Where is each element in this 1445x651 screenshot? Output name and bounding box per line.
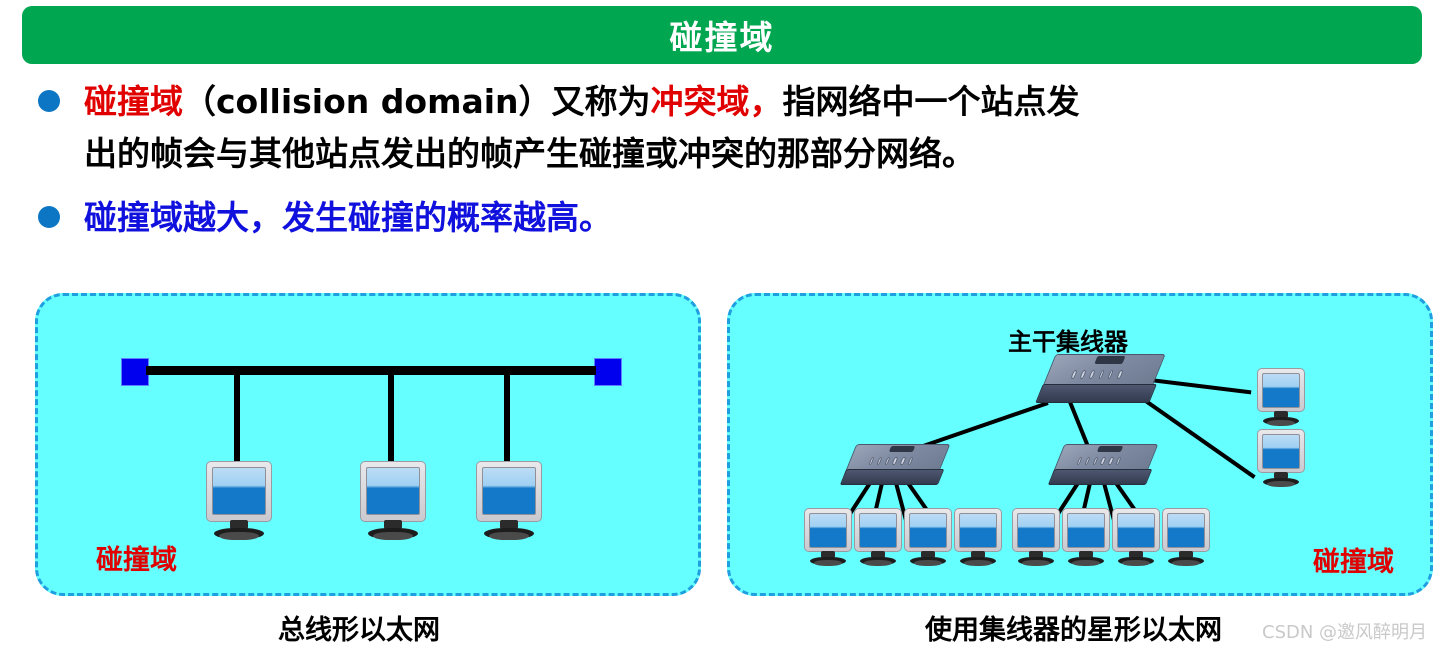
pc-monitor-icon [904,508,952,568]
monitor-bezel [954,508,1002,552]
pc-monitor-icon [954,508,1002,568]
monitor-bezel [360,461,426,522]
monitor-screen [859,513,897,548]
monitor-bezel [1012,508,1060,552]
hub-port-row [869,458,914,464]
monitor-base-highlight [1267,420,1296,426]
monitor-base-highlight [864,560,893,566]
slide-canvas: 碰撞域 碰撞域（collision domain）又称为冲突域，指网络中一个站点… [0,0,1445,651]
pc-monitor-icon [1112,508,1160,568]
pc-monitor-icon [1257,429,1305,489]
backbone-hub-label: 主干集线器 [1008,322,1128,357]
pc-monitor-icon [1012,508,1060,568]
backbone-hub-icon [1048,354,1156,412]
bullet-1-seg-4: 指网络中一个站点发 [783,82,1080,121]
caption-bus-ethernet: 总线形以太网 [278,608,440,647]
monitor-base-highlight [219,532,259,540]
hub-front-face [839,469,943,485]
bullet-dot-icon [38,206,60,228]
monitor-screen [909,513,947,548]
monitor-screen [1117,513,1155,548]
bus-backbone-line [146,366,596,375]
monitor-base-highlight [1022,560,1051,566]
monitor-base-highlight [1267,481,1296,487]
hub-left-icon [850,444,942,492]
term-conflict-domain-cn: 冲突域， [651,82,783,121]
monitor-screen [1262,373,1300,408]
hub-front-face [1035,384,1157,403]
bullet-2-line-1: 碰撞域越大，发生碰撞的概率越高。 [84,192,612,244]
monitor-screen [1067,513,1105,548]
monitor-screen [959,513,997,548]
monitor-base-highlight [1122,560,1151,566]
monitor-screen [1167,513,1205,548]
monitor-base-highlight [964,560,993,566]
monitor-bezel [804,508,852,552]
hub-front-face [1047,469,1151,485]
bullet-item-1: 碰撞域（collision domain）又称为冲突域，指网络中一个站点发 出的… [0,76,1445,180]
monitor-bezel [1257,429,1305,473]
monitor-screen [482,467,535,515]
pc-monitor-icon [206,461,272,543]
bullet-1-line-1: 碰撞域（collision domain）又称为冲突域，指网络中一个站点发 [84,76,1080,128]
bullet-item-2-body: 碰撞域越大，发生碰撞的概率越高。 [84,192,612,244]
bullet-dot-icon [38,90,60,112]
monitor-base-highlight [1072,560,1101,566]
monitor-bezel [904,508,952,552]
monitor-base-highlight [1172,560,1201,566]
bus-terminator-left-icon [121,358,149,386]
monitor-bezel [1112,508,1160,552]
monitor-base-highlight [373,532,413,540]
hub-slot [1097,446,1123,452]
monitor-screen [212,467,265,515]
hub-port-row [1070,371,1122,378]
monitor-bezel [1257,368,1305,412]
bus-drop-line-3 [504,370,510,470]
pc-monitor-icon [476,461,542,543]
monitor-base-highlight [489,532,529,540]
bullet-item-2: 碰撞域越大，发生碰撞的概率越高。 [0,192,1445,244]
monitor-screen [809,513,847,548]
monitor-bezel [1062,508,1110,552]
diagram-star-ethernet: 主干集线器 [727,293,1433,596]
bullet-1-seg-2: （collision domain）又称为 [183,82,651,121]
bus-drop-line-2 [388,370,394,470]
pc-monitor-icon [854,508,902,568]
pc-monitor-icon [804,508,852,568]
caption-star-ethernet: 使用集线器的星形以太网 [925,608,1222,647]
monitor-screen [1262,434,1300,469]
monitor-bezel [1162,508,1210,552]
hub-slot [889,446,915,452]
slide-title-bar: 碰撞域 [22,6,1422,64]
pc-monitor-icon [360,461,426,543]
bullet-list: 碰撞域（collision domain）又称为冲突域，指网络中一个站点发 出的… [0,76,1445,244]
monitor-bezel [206,461,272,522]
page-title: 碰撞域 [670,11,775,59]
monitor-bezel [854,508,902,552]
hub-right-icon [1058,444,1150,492]
bullet-item-1-body: 碰撞域（collision domain）又称为冲突域，指网络中一个站点发 出的… [84,76,1080,180]
hub-slot [1094,356,1125,364]
watermark-text: CSDN @邀风醉明月 [1262,618,1427,644]
term-collision-domain-cn: 碰撞域 [84,82,183,121]
pc-monitor-icon [1162,508,1210,568]
diagram-bus-ethernet: 碰撞域 [35,293,701,596]
pc-monitor-icon [1257,368,1305,428]
hub-port-row [1077,458,1122,464]
pc-monitor-icon [1062,508,1110,568]
bullet-1-line-2: 出的帧会与其他站点发出的帧产生碰撞或冲突的那部分网络。 [84,128,1080,180]
bus-drop-line-1 [234,370,240,470]
monitor-screen [366,467,419,515]
monitor-bezel [476,461,542,522]
bus-terminator-right-icon [594,358,622,386]
monitor-screen [1017,513,1055,548]
collision-domain-label-right: 碰撞域 [1313,540,1394,579]
collision-domain-label-left: 碰撞域 [96,538,177,577]
monitor-base-highlight [914,560,943,566]
monitor-base-highlight [814,560,843,566]
